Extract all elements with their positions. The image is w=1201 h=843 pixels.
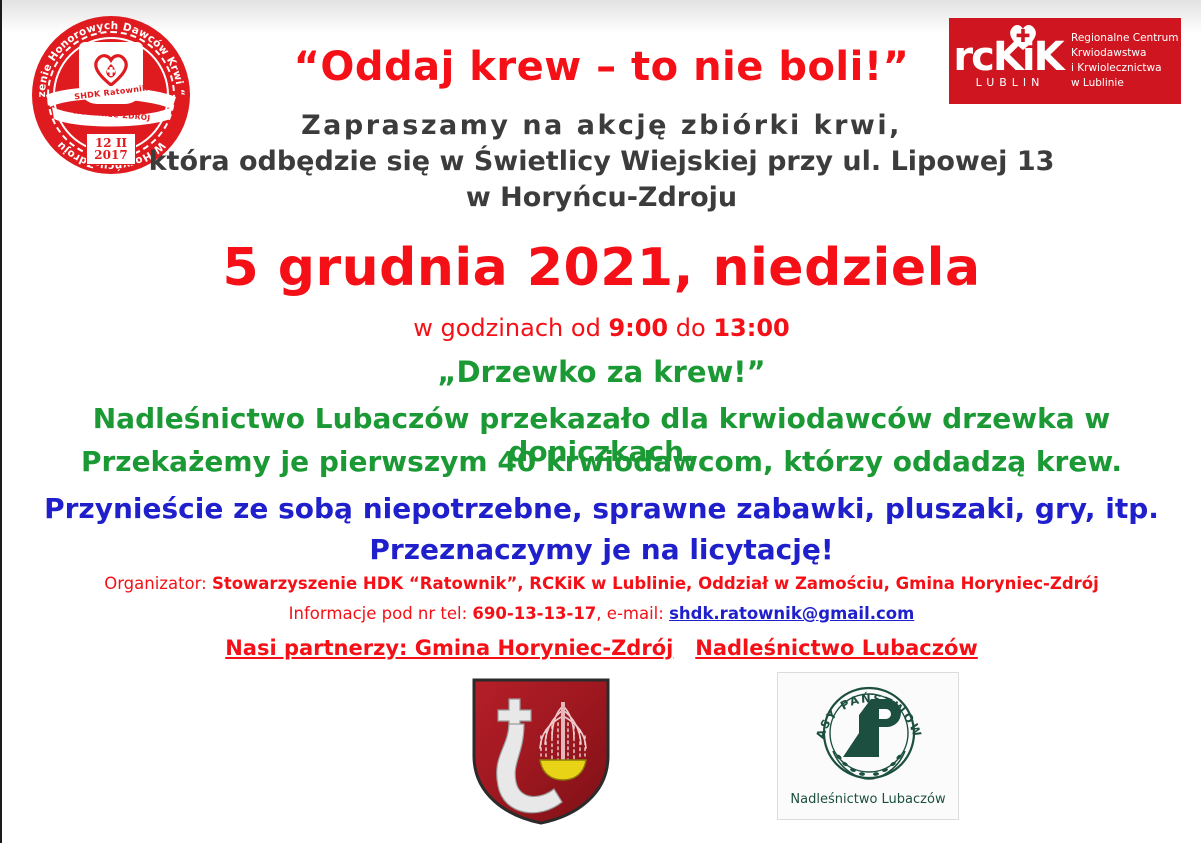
organizer-line: Organizator: Stowarzyszenie HDK “Ratowni… [2, 574, 1201, 593]
hours-start-time: 9:00 [608, 314, 668, 342]
invitation-line-3: w Horyńcu-Zdroju [2, 180, 1201, 216]
invitation-line-2: która odbędzie się w Świetlicy Wiejskiej… [2, 144, 1201, 180]
event-hours: w godzinach od 9:00 do 13:00 [2, 314, 1201, 342]
event-date: 5 grudnia 2021, niedziela [2, 238, 1201, 298]
hours-prefix-label: w godzinach od [413, 314, 608, 342]
lasy-panstwowe-emblem: LASY PAŃSTWOWE [813, 677, 925, 789]
tree-campaign-line-2: Przekażemy je pierwszym 40 krwiodawcom, … [2, 445, 1201, 478]
contact-phone-number: 690-13-13-17 [472, 604, 596, 623]
invitation-block: Zapraszamy na akcję zbiórki krwi, która … [2, 108, 1201, 217]
organizer-label: Organizator: [104, 574, 212, 593]
partners-line: Nasi partnerzy: Gmina Horyniec-Zdrój Nad… [2, 636, 1201, 660]
poster-root: Stowarzyszenie Honorowych Dawców Krwi “R… [0, 0, 1201, 843]
poster-headline: “Oddaj krew – to nie boli!” [2, 44, 1201, 90]
nadlesnictwo-caption: Nadleśnictwo Lubaczów [778, 792, 958, 807]
toys-appeal-line-1: Przynieście ze sobą niepotrzebne, sprawn… [2, 492, 1201, 525]
contact-phone-label: Informacje pod nr tel: [289, 604, 473, 623]
hours-end-time: 13:00 [713, 314, 789, 342]
horyniec-zdroj-coat-of-arms [468, 676, 614, 826]
contact-email-label: , e-mail: [596, 604, 669, 623]
partner-second-name: Nadleśnictwo Lubaczów [695, 636, 978, 660]
organizer-names: Stowarzyszenie HDK “Ratownik”, RCKiK w L… [212, 574, 1099, 593]
contact-line: Informacje pod nr tel: 690-13-13-17, e-m… [2, 604, 1201, 623]
invitation-line-1: Zapraszamy na akcję zbiórki krwi, [2, 108, 1201, 144]
nadlesnictwo-lubaczow-logo-box: LASY PAŃSTWOWE Nadleśnictw [777, 672, 959, 820]
contact-email-link[interactable]: shdk.ratownik@gmail.com [669, 604, 914, 623]
toys-appeal-line-2: Przeznaczymy je na licytację! [2, 533, 1201, 566]
hours-middle-label: do [668, 314, 713, 342]
partners-label-and-first: Nasi partnerzy: Gmina Horyniec-Zdrój [225, 636, 673, 660]
tree-campaign-title: „Drzewko za krew!” [2, 355, 1201, 389]
